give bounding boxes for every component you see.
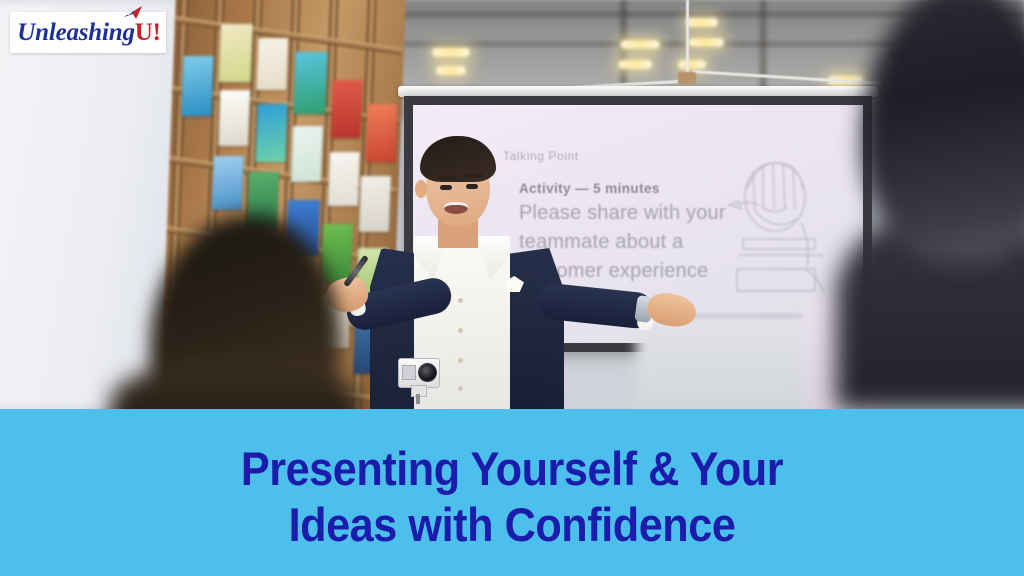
- mouth: [444, 202, 468, 214]
- camera-display: [402, 365, 416, 380]
- shirt-button: [458, 298, 463, 303]
- book: [181, 56, 213, 116]
- audience-foreground-right: [862, 0, 1024, 262]
- ceiling-light: [686, 18, 718, 27]
- title-line-2: Ideas with Confidence: [41, 497, 983, 553]
- book: [218, 90, 250, 146]
- book: [293, 52, 327, 114]
- logo-word-primary: Unleashing: [17, 19, 134, 46]
- page-title: Presenting Yourself & Your Ideas with Co…: [41, 441, 983, 553]
- ceiling-light: [688, 38, 724, 47]
- eyebrow: [438, 176, 457, 180]
- ear: [415, 180, 427, 198]
- camera-lens: [418, 363, 437, 382]
- book: [219, 24, 253, 82]
- title-band: Presenting Yourself & Your Ideas with Co…: [0, 409, 1024, 576]
- shirt-button: [458, 328, 463, 333]
- hair: [420, 136, 496, 182]
- book: [212, 156, 244, 210]
- presenter-figure: [352, 128, 652, 409]
- book: [256, 38, 288, 90]
- eye: [466, 184, 478, 189]
- ceiling-light: [618, 60, 652, 69]
- hero-photo: Talking Point Activity — 5 minutes Pleas…: [0, 0, 1024, 409]
- eyebrow: [464, 174, 483, 178]
- ceiling-light: [432, 48, 470, 57]
- brand-logo[interactable]: UnleashingU!: [10, 12, 166, 53]
- ceiling-light: [620, 40, 660, 49]
- ceiling-light: [436, 66, 466, 75]
- tripod-pole: [416, 394, 420, 404]
- flag-arrow-icon: [123, 6, 145, 20]
- gopro-camera: [398, 358, 438, 404]
- logo-word-accent: U!: [135, 19, 161, 46]
- logo-wordmark: UnleashingU!: [17, 19, 160, 47]
- eye: [440, 185, 452, 190]
- book: [291, 126, 323, 182]
- shirt-button: [458, 386, 463, 391]
- screen-wire-hook: [678, 72, 696, 84]
- title-line-1: Presenting Yourself & Your: [41, 441, 983, 497]
- ceiling-light: [678, 60, 706, 69]
- screen-drop-wire: [686, 0, 689, 82]
- shirt-button: [458, 358, 463, 363]
- marketing-slide: Talking Point Activity — 5 minutes Pleas…: [0, 0, 1024, 576]
- book: [256, 104, 288, 162]
